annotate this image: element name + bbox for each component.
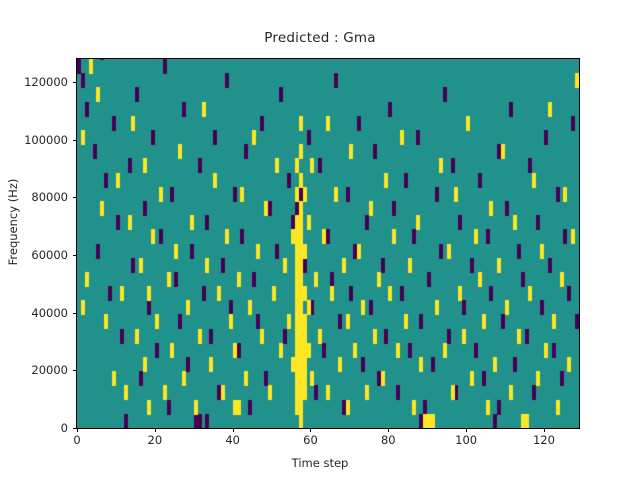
x-tick-label: 60 bbox=[280, 433, 340, 447]
x-tick-label: 40 bbox=[203, 433, 263, 447]
y-tick-label: 0 bbox=[0, 421, 68, 435]
matplotlib-figure: Predicted : Gma 020406080100120 02000040… bbox=[0, 0, 640, 480]
y-tick-mark bbox=[73, 428, 77, 429]
x-tick-mark bbox=[155, 428, 156, 432]
y-tick-mark bbox=[73, 197, 77, 198]
y-tick-label: 20000 bbox=[0, 363, 68, 377]
heatmap-canvas bbox=[77, 59, 579, 428]
y-tick-mark bbox=[73, 82, 77, 83]
x-tick-mark bbox=[310, 428, 311, 432]
x-tick-mark bbox=[466, 428, 467, 432]
x-tick-label: 100 bbox=[436, 433, 496, 447]
y-tick-label: 120000 bbox=[0, 75, 68, 89]
y-tick-mark bbox=[73, 313, 77, 314]
heatmap-axes bbox=[76, 58, 580, 429]
x-tick-mark bbox=[388, 428, 389, 432]
x-tick-mark bbox=[233, 428, 234, 432]
x-tick-mark bbox=[544, 428, 545, 432]
x-tick-mark bbox=[77, 428, 78, 432]
y-tick-mark bbox=[73, 370, 77, 371]
x-tick-label: 120 bbox=[514, 433, 574, 447]
x-tick-label: 80 bbox=[358, 433, 418, 447]
chart-title: Predicted : Gma bbox=[0, 30, 640, 46]
y-axis-title: Frequency (Hz) bbox=[6, 122, 20, 322]
x-tick-label: 0 bbox=[47, 433, 107, 447]
x-axis-title: Time step bbox=[0, 456, 640, 470]
y-tick-mark bbox=[73, 140, 77, 141]
y-tick-mark bbox=[73, 255, 77, 256]
x-tick-label: 20 bbox=[125, 433, 185, 447]
